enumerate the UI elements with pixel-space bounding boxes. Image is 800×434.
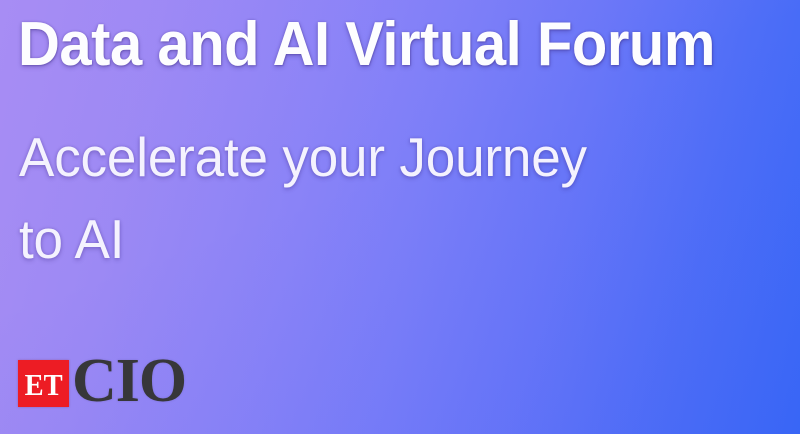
et-badge-icon: ET: [18, 360, 69, 407]
etcio-logo[interactable]: ET CIO: [18, 358, 186, 408]
promo-banner: Data and AI Virtual Forum Accelerate you…: [0, 0, 800, 434]
banner-subheading-line-2: to AI: [19, 198, 695, 280]
banner-content: Data and AI Virtual Forum Accelerate you…: [0, 0, 800, 434]
banner-subheading: Accelerate your Journey to AI: [19, 116, 695, 280]
banner-headline: Data and AI Virtual Forum: [18, 12, 738, 78]
banner-subheading-line-1: Accelerate your Journey: [19, 116, 695, 198]
et-badge-label: ET: [24, 369, 62, 400]
cio-wordmark: CIO: [72, 350, 186, 412]
